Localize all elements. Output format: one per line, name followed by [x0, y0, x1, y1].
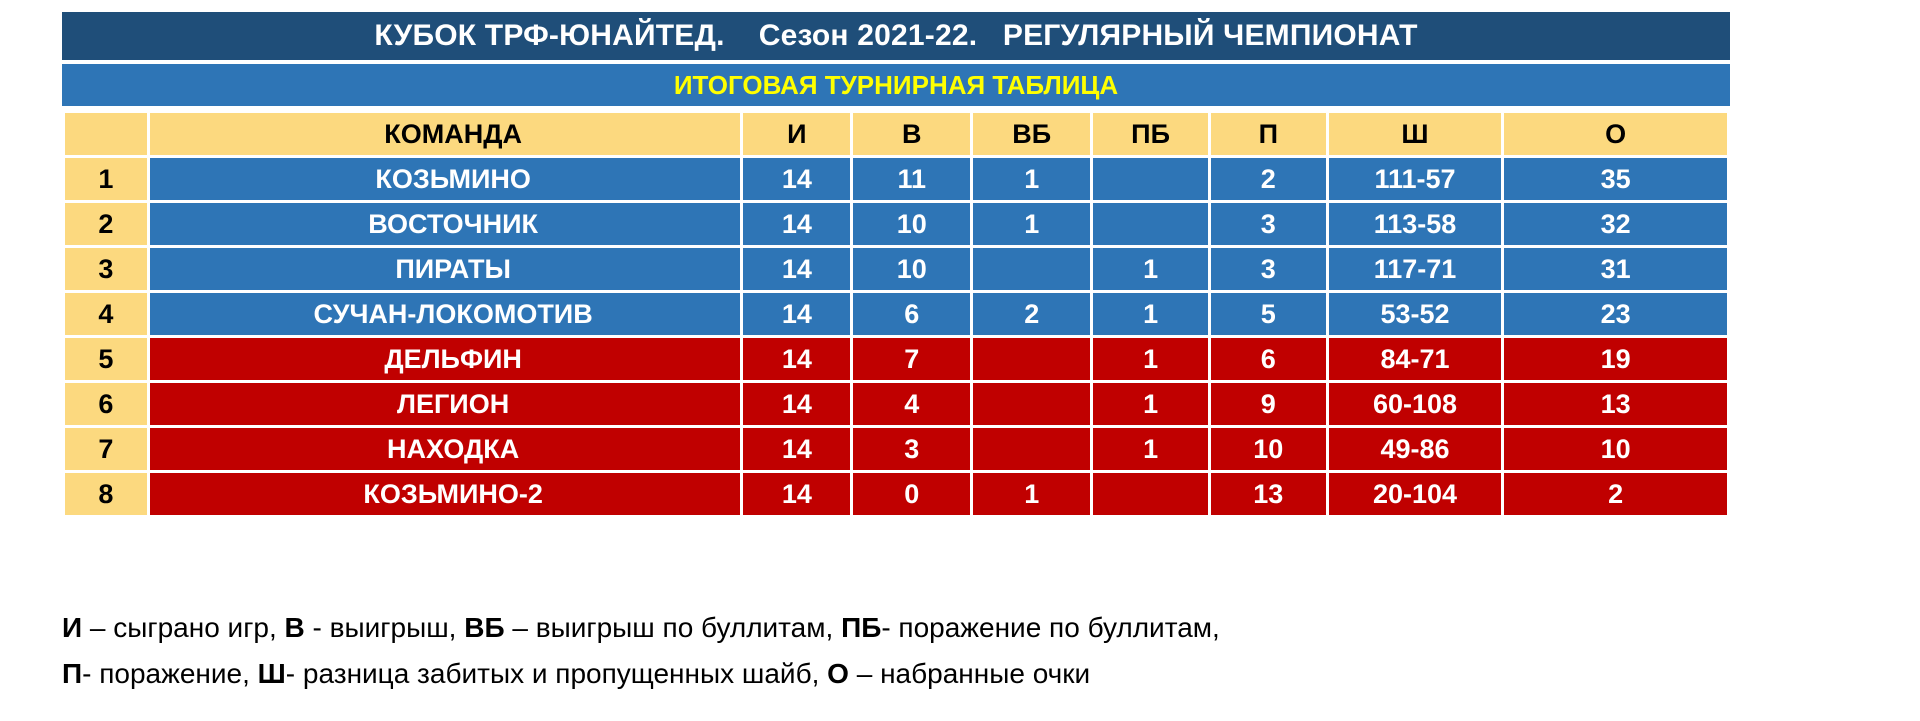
table-row: 6ЛЕГИОН1441960-10813	[65, 383, 1727, 425]
row-points: 23	[1504, 293, 1727, 335]
legend: И – сыграно игр, В - выигрыш, ВБ – выигр…	[62, 605, 1762, 697]
table-row: 3ПИРАТЫ141013117-7131	[65, 248, 1727, 290]
row-shootout-losses: 1	[1093, 293, 1208, 335]
row-shootout-losses	[1093, 158, 1208, 200]
row-games: 14	[743, 428, 850, 470]
row-shootout-losses: 1	[1093, 383, 1208, 425]
table-header-row: КОМАНДА И В ВБ ПБ П Ш О	[65, 113, 1727, 155]
legend-abbr: ВБ	[464, 612, 504, 643]
row-shootout-wins: 1	[973, 203, 1090, 245]
row-shootout-wins: 1	[973, 158, 1090, 200]
row-shootout-losses: 1	[1093, 338, 1208, 380]
row-goals: 53-52	[1329, 293, 1502, 335]
row-team-name: СУЧАН-ЛОКОМОТИВ	[150, 293, 741, 335]
row-losses: 13	[1211, 473, 1326, 515]
row-team-name: ДЕЛЬФИН	[150, 338, 741, 380]
row-shootout-losses	[1093, 473, 1208, 515]
column-header-shootout-wins: ВБ	[973, 113, 1090, 155]
column-header-losses: П	[1211, 113, 1326, 155]
tournament-title-bar: КУБОК ТРФ-ЮНАЙТЕД. Сезон 2021-22. РЕГУЛЯ…	[62, 12, 1730, 60]
row-losses: 10	[1211, 428, 1326, 470]
legend-abbr: ПБ	[841, 612, 881, 643]
row-wins: 7	[853, 338, 970, 380]
row-rank: 2	[65, 203, 147, 245]
table-row: 5ДЕЛЬФИН1471684-7119	[65, 338, 1727, 380]
legend-line-2: П- поражение, Ш- разница забитых и пропу…	[62, 651, 1762, 697]
legend-text: - разница забитых и пропущенных шайб,	[286, 658, 827, 689]
column-header-team: КОМАНДА	[150, 113, 741, 155]
row-games: 14	[743, 293, 850, 335]
row-games: 14	[743, 248, 850, 290]
row-shootout-wins	[973, 383, 1090, 425]
row-shootout-wins	[973, 428, 1090, 470]
row-points: 35	[1504, 158, 1727, 200]
row-goals: 111-57	[1329, 158, 1502, 200]
row-team-name: КОЗЬМИНО-2	[150, 473, 741, 515]
table-row: 8КОЗЬМИНО-214011320-1042	[65, 473, 1727, 515]
row-rank: 8	[65, 473, 147, 515]
column-header-games: И	[743, 113, 850, 155]
row-points: 10	[1504, 428, 1727, 470]
column-header-shootout-losses: ПБ	[1093, 113, 1208, 155]
row-points: 19	[1504, 338, 1727, 380]
column-header-rank	[65, 113, 147, 155]
row-wins: 10	[853, 248, 970, 290]
row-shootout-losses: 1	[1093, 248, 1208, 290]
legend-abbr: Ш	[258, 658, 286, 689]
row-wins: 10	[853, 203, 970, 245]
row-team-name: ВОСТОЧНИК	[150, 203, 741, 245]
row-losses: 5	[1211, 293, 1326, 335]
column-header-points: О	[1504, 113, 1727, 155]
legend-abbr: П	[62, 658, 82, 689]
row-points: 32	[1504, 203, 1727, 245]
table-row: 7НАХОДКА14311049-8610	[65, 428, 1727, 470]
row-losses: 3	[1211, 203, 1326, 245]
table-row: 4СУЧАН-ЛОКОМОТИВ14621553-5223	[65, 293, 1727, 335]
table-row: 1КОЗЬМИНО141112111-5735	[65, 158, 1727, 200]
row-shootout-wins	[973, 338, 1090, 380]
row-shootout-wins: 2	[973, 293, 1090, 335]
row-rank: 1	[65, 158, 147, 200]
legend-abbr: О	[827, 658, 849, 689]
row-goals: 49-86	[1329, 428, 1502, 470]
row-goals: 20-104	[1329, 473, 1502, 515]
row-team-name: ПИРАТЫ	[150, 248, 741, 290]
standings-table-wrapper: КОМАНДА И В ВБ ПБ П Ш О 1КОЗЬМИНО1411121…	[62, 110, 1730, 518]
legend-text: - поражение по буллитам,	[881, 612, 1220, 643]
column-header-wins: В	[853, 113, 970, 155]
row-wins: 11	[853, 158, 970, 200]
row-games: 14	[743, 338, 850, 380]
row-wins: 4	[853, 383, 970, 425]
legend-abbr: И	[62, 612, 82, 643]
standings-body: 1КОЗЬМИНО141112111-57352ВОСТОЧНИК1410131…	[65, 158, 1727, 515]
tournament-subtitle-bar: ИТОГОВАЯ ТУРНИРНАЯ ТАБЛИЦА	[62, 64, 1730, 106]
row-games: 14	[743, 158, 850, 200]
table-row: 2ВОСТОЧНИК141013113-5832	[65, 203, 1727, 245]
row-goals: 113-58	[1329, 203, 1502, 245]
row-goals: 60-108	[1329, 383, 1502, 425]
row-points: 13	[1504, 383, 1727, 425]
legend-abbr: В	[285, 612, 305, 643]
standings-table: КОМАНДА И В ВБ ПБ П Ш О 1КОЗЬМИНО1411121…	[62, 110, 1730, 518]
row-games: 14	[743, 203, 850, 245]
row-rank: 4	[65, 293, 147, 335]
row-games: 14	[743, 383, 850, 425]
row-shootout-losses: 1	[1093, 428, 1208, 470]
legend-text: – сыграно игр,	[82, 612, 284, 643]
row-rank: 6	[65, 383, 147, 425]
row-losses: 6	[1211, 338, 1326, 380]
legend-line-1: И – сыграно игр, В - выигрыш, ВБ – выигр…	[62, 605, 1762, 651]
row-goals: 84-71	[1329, 338, 1502, 380]
row-team-name: НАХОДКА	[150, 428, 741, 470]
row-points: 31	[1504, 248, 1727, 290]
row-wins: 6	[853, 293, 970, 335]
row-games: 14	[743, 473, 850, 515]
legend-text: – выигрыш по буллитам,	[505, 612, 841, 643]
standings-page: КУБОК ТРФ-ЮНАЙТЕД. Сезон 2021-22. РЕГУЛЯ…	[0, 0, 1920, 721]
column-header-goals: Ш	[1329, 113, 1502, 155]
row-team-name: ЛЕГИОН	[150, 383, 741, 425]
row-wins: 0	[853, 473, 970, 515]
row-losses: 2	[1211, 158, 1326, 200]
row-wins: 3	[853, 428, 970, 470]
legend-text: - поражение,	[82, 658, 258, 689]
row-rank: 5	[65, 338, 147, 380]
row-team-name: КОЗЬМИНО	[150, 158, 741, 200]
row-rank: 3	[65, 248, 147, 290]
legend-text: – набранные очки	[849, 658, 1090, 689]
row-rank: 7	[65, 428, 147, 470]
row-losses: 3	[1211, 248, 1326, 290]
legend-text: - выигрыш,	[305, 612, 464, 643]
row-shootout-wins	[973, 248, 1090, 290]
row-shootout-wins: 1	[973, 473, 1090, 515]
row-shootout-losses	[1093, 203, 1208, 245]
row-losses: 9	[1211, 383, 1326, 425]
row-goals: 117-71	[1329, 248, 1502, 290]
row-points: 2	[1504, 473, 1727, 515]
